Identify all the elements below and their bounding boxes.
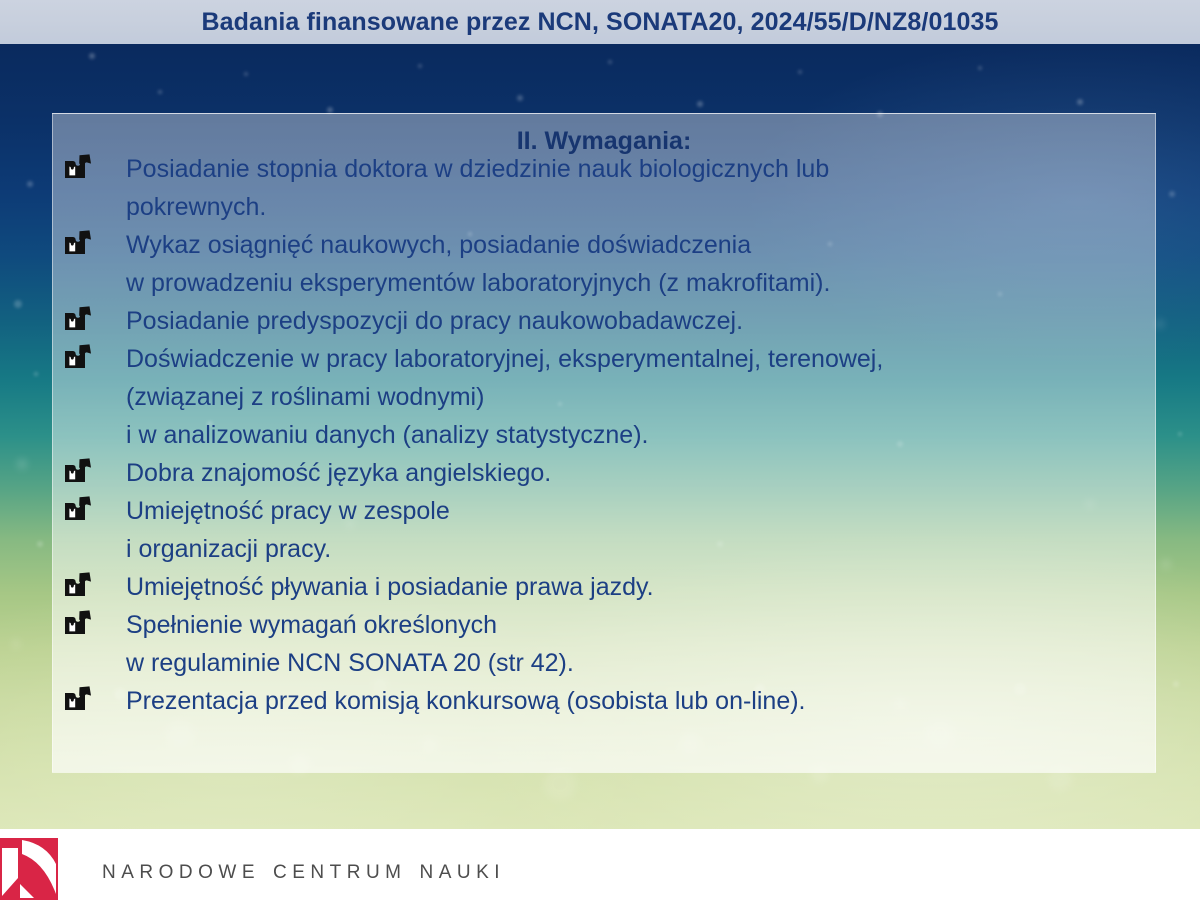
bokeh-dot bbox=[608, 60, 612, 64]
requirements-list: Posiadanie stopnia doktora w dziedzinie … bbox=[0, 150, 1200, 720]
requirement-continuation-line: i organizacji pracy. bbox=[126, 530, 1200, 568]
bokeh-dot bbox=[158, 90, 162, 94]
requirement-item: Dobra znajomość języka angielskiego. bbox=[0, 454, 1200, 492]
ncn-logo-mark bbox=[0, 838, 58, 900]
bokeh-dot bbox=[244, 72, 248, 76]
ncn-logo-text: Narodowe Centrum Nauki bbox=[102, 854, 505, 885]
requirement-text: Umiejętność pływania i posiadanie prawa … bbox=[126, 568, 1200, 606]
requirement-item: Prezentacja przed komisją konkursową (os… bbox=[0, 682, 1200, 720]
ncn-logo: Narodowe Centrum Nauki bbox=[0, 838, 505, 900]
requirement-text: Wykaz osiągnięć naukowych, posiadanie do… bbox=[126, 226, 1200, 264]
requirement-item: Posiadanie predyspozycji do pracy naukow… bbox=[0, 302, 1200, 340]
footer-logos-bar: Narodowe Centrum Nauki UNIWERSYTET PRZYR… bbox=[0, 829, 1200, 900]
presentation-slide: Badania finansowane przez NCN, SONATA20,… bbox=[0, 0, 1200, 900]
requirement-item: Wykaz osiągnięć naukowych, posiadanie do… bbox=[0, 226, 1200, 302]
requirement-item: Posiadanie stopnia doktora w dziedzinie … bbox=[0, 150, 1200, 226]
bokeh-dot bbox=[798, 70, 802, 74]
requirement-continuation-line: i w analizowaniu danych (analizy statyst… bbox=[126, 416, 1200, 454]
puzzle-piece-icon bbox=[64, 572, 92, 598]
puzzle-piece-icon bbox=[64, 306, 92, 332]
bokeh-dot bbox=[418, 64, 422, 68]
puzzle-piece-icon bbox=[64, 154, 92, 180]
header-band: Badania finansowane przez NCN, SONATA20,… bbox=[0, 0, 1200, 44]
header-title: Badania finansowane przez NCN, SONATA20,… bbox=[0, 0, 1200, 44]
requirement-continuation-line: w prowadzeniu eksperymentów laboratoryjn… bbox=[126, 264, 1200, 302]
puzzle-piece-icon bbox=[64, 230, 92, 256]
requirement-text: Doświadczenie w pracy laboratoryjnej, ek… bbox=[126, 340, 1200, 378]
requirement-item: Umiejętność pracy w zespolei organizacji… bbox=[0, 492, 1200, 568]
requirement-text: Posiadanie predyspozycji do pracy naukow… bbox=[126, 302, 1200, 340]
requirement-item: Spełnienie wymagań określonychw regulami… bbox=[0, 606, 1200, 682]
puzzle-piece-icon bbox=[64, 344, 92, 370]
requirement-text: Umiejętność pracy w zespole bbox=[126, 492, 1200, 530]
requirement-text: Dobra znajomość języka angielskiego. bbox=[126, 454, 1200, 492]
requirement-continuation-line: (związanej z roślinami wodnymi) bbox=[126, 378, 1200, 416]
puzzle-piece-icon bbox=[64, 496, 92, 522]
requirement-text: Spełnienie wymagań określonych bbox=[126, 606, 1200, 644]
requirement-continuation-line: pokrewnych. bbox=[126, 188, 1200, 226]
bokeh-dot bbox=[697, 101, 703, 107]
requirement-continuation-line: w regulaminie NCN SONATA 20 (str 42). bbox=[126, 644, 1200, 682]
requirement-text: Posiadanie stopnia doktora w dziedzinie … bbox=[126, 150, 1200, 188]
requirement-text: Prezentacja przed komisją konkursową (os… bbox=[126, 682, 1200, 720]
requirement-item: Doświadczenie w pracy laboratoryjnej, ek… bbox=[0, 340, 1200, 454]
bokeh-dot bbox=[89, 53, 95, 59]
puzzle-piece-icon bbox=[64, 686, 92, 712]
bokeh-dot bbox=[517, 95, 523, 101]
puzzle-piece-icon bbox=[64, 458, 92, 484]
requirement-item: Umiejętność pływania i posiadanie prawa … bbox=[0, 568, 1200, 606]
bokeh-dot bbox=[978, 66, 982, 70]
bokeh-dot bbox=[1077, 99, 1083, 105]
puzzle-piece-icon bbox=[64, 610, 92, 636]
